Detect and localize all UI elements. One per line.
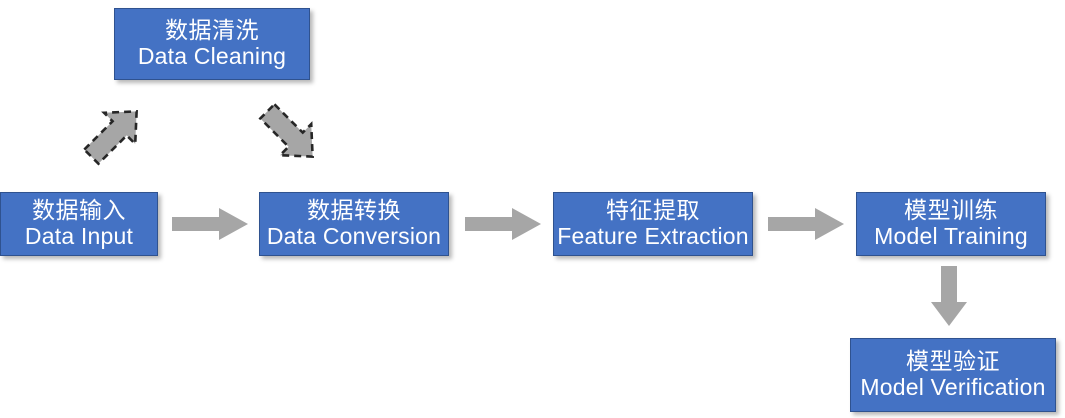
- node-model-verification[interactable]: 模型验证 Model Verification: [850, 338, 1056, 412]
- node-data-cleaning[interactable]: 数据清洗 Data Cleaning: [114, 8, 310, 80]
- node-data-input-label-cn: 数据输入: [32, 198, 126, 224]
- node-model-verification-label-en: Model Verification: [860, 375, 1045, 401]
- node-feature-extraction[interactable]: 特征提取 Feature Extraction: [553, 192, 753, 256]
- flowchart-canvas: 数据清洗 Data Cleaning 数据输入 Data Input 数据转换 …: [0, 0, 1065, 418]
- node-data-cleaning-label-en: Data Cleaning: [138, 44, 286, 70]
- node-data-conversion[interactable]: 数据转换 Data Conversion: [259, 192, 449, 256]
- node-data-conversion-label-cn: 数据转换: [307, 198, 401, 224]
- arrow-cleaning-to-conversion: [254, 98, 326, 170]
- node-model-verification-label-cn: 模型验证: [906, 349, 1000, 375]
- arrow-training-to-verification: [931, 266, 967, 326]
- node-feature-extraction-label-en: Feature Extraction: [557, 224, 749, 250]
- node-model-training-label-en: Model Training: [874, 224, 1028, 250]
- node-feature-extraction-label-cn: 特征提取: [606, 198, 700, 224]
- arrow-input-to-conversion: [172, 208, 248, 240]
- node-data-input[interactable]: 数据输入 Data Input: [0, 192, 158, 256]
- node-data-conversion-label-en: Data Conversion: [267, 224, 441, 250]
- arrow-input-to-cleaning: [78, 98, 150, 170]
- node-data-cleaning-label-cn: 数据清洗: [165, 18, 259, 44]
- node-model-training-label-cn: 模型训练: [904, 198, 998, 224]
- arrow-conversion-to-feature: [465, 208, 541, 240]
- node-data-input-label-en: Data Input: [25, 224, 133, 250]
- node-model-training[interactable]: 模型训练 Model Training: [856, 192, 1046, 256]
- arrow-feature-to-training: [768, 208, 844, 240]
